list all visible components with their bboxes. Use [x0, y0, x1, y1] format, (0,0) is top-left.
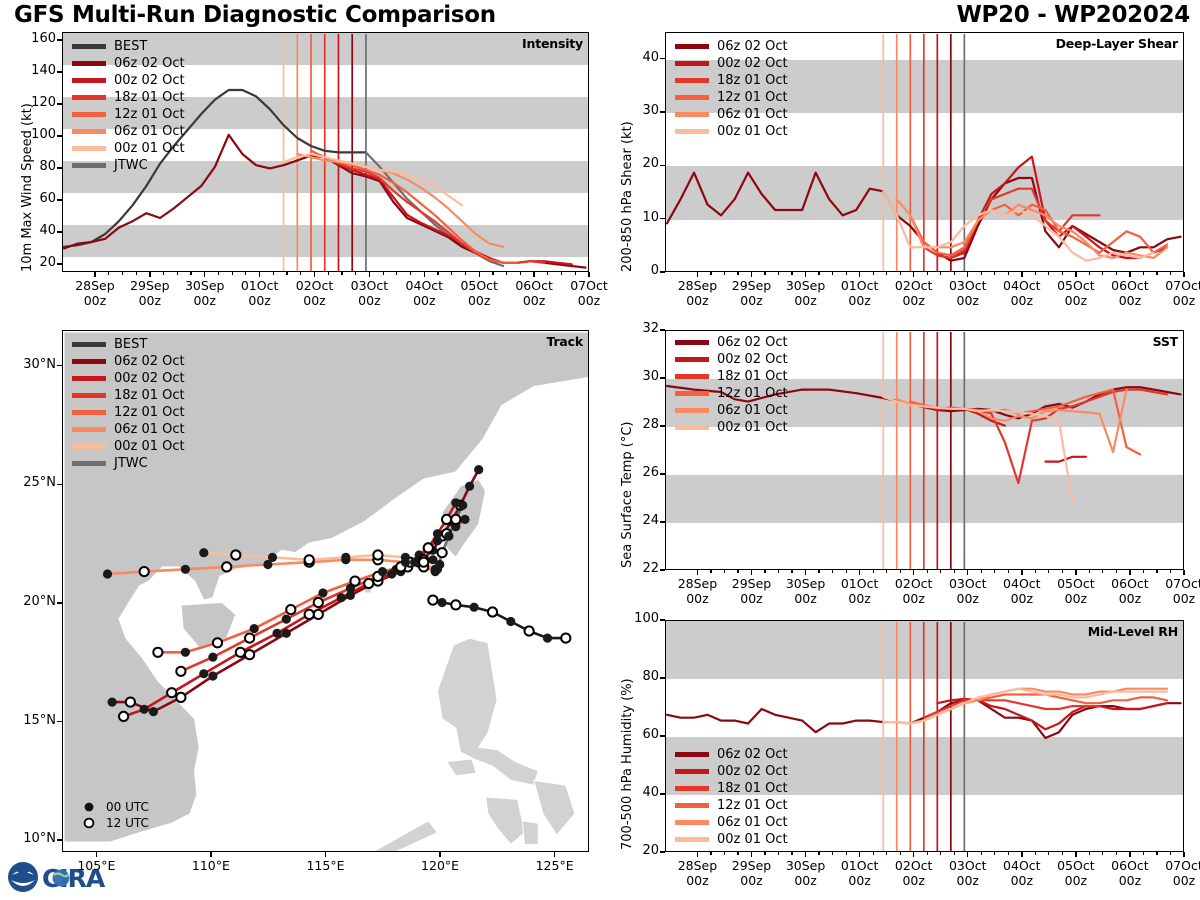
- x-tick-date: 05Oct: [1057, 576, 1095, 591]
- lon-tick-label: 105°E: [56, 858, 136, 873]
- x-tick-mark: [94, 272, 95, 277]
- x-tick-date: 02Oct: [895, 576, 933, 591]
- y-tick-label: 30: [621, 369, 659, 384]
- x-tick-mark: [1183, 852, 1184, 857]
- legend-item[interactable]: 12z 01 Oct: [675, 89, 788, 106]
- track-marker-00utc: [433, 565, 442, 574]
- legend-color-swatch: [72, 44, 106, 48]
- y-tick-mark: [660, 569, 665, 570]
- track-marker-00utc: [208, 653, 217, 662]
- x-minor-tick: [886, 570, 887, 573]
- y-tick-label: 100: [18, 127, 56, 142]
- x-minor-tick: [575, 272, 576, 275]
- x-tick-hour: 00z: [957, 591, 979, 606]
- x-tick-hour: 00z: [686, 293, 708, 308]
- x-tick-hour: 00z: [1119, 873, 1141, 888]
- x-tick-hour: 00z: [1011, 293, 1033, 308]
- x-tick-date: 28Sep: [678, 278, 717, 293]
- x-tick-date: 29Sep: [130, 278, 169, 293]
- x-tick-hour: 00z: [686, 873, 708, 888]
- x-minor-tick: [954, 272, 955, 275]
- x-minor-tick: [1102, 852, 1103, 855]
- legend-color-swatch: [675, 803, 709, 807]
- x-tick-mark: [859, 272, 860, 277]
- x-tick-date: 29Sep: [732, 858, 771, 873]
- legend-label: BEST: [114, 337, 147, 352]
- x-minor-tick: [190, 272, 191, 275]
- legend-label: 18z 01 Oct: [717, 369, 788, 384]
- track-marker-12utc: [126, 698, 135, 707]
- x-tick-date: 30Sep: [786, 858, 825, 873]
- legend-color-swatch: [72, 78, 106, 82]
- legend-item[interactable]: 06z 02 Oct: [675, 38, 788, 55]
- x-tick-mark: [805, 570, 806, 575]
- y-tick-mark: [660, 377, 665, 378]
- track-marker-12utc: [119, 712, 128, 721]
- panay-island: [486, 797, 525, 844]
- x-tick-mark: [697, 570, 698, 575]
- lon-tick-mark: [325, 852, 326, 857]
- y-tick-mark: [660, 165, 665, 166]
- legend-label: 00z 02 Oct: [717, 352, 788, 367]
- legend-item[interactable]: 00z 01 Oct: [72, 438, 185, 455]
- legend-label: 00z 01 Oct: [114, 141, 185, 156]
- x-tick-hour: 00z: [794, 293, 816, 308]
- x-minor-tick: [886, 852, 887, 855]
- x-tick-mark: [697, 272, 698, 277]
- lon-tick-mark: [554, 852, 555, 857]
- x-minor-tick: [724, 570, 725, 573]
- x-minor-tick: [710, 272, 711, 275]
- x-tick-mark: [424, 272, 425, 277]
- x-tick-hour: 00z: [848, 591, 870, 606]
- track-marker-00utc: [337, 593, 346, 602]
- legend-item[interactable]: 00z 02 Oct: [675, 55, 788, 72]
- x-tick-mark: [1075, 570, 1076, 575]
- rh-panel-label: Mid-Level RH: [1088, 624, 1178, 639]
- noaa-logo: [8, 862, 38, 892]
- x-minor-tick: [873, 272, 874, 275]
- legend-color-swatch: [72, 112, 106, 116]
- x-minor-tick: [737, 570, 738, 573]
- y-tick-label: 80: [621, 669, 659, 684]
- legend-item[interactable]: 18z 01 Oct: [72, 387, 185, 404]
- legend-item[interactable]: JTWC: [72, 157, 185, 174]
- x-minor-tick: [1102, 570, 1103, 573]
- track-marker-12utc: [561, 634, 570, 643]
- legend-item[interactable]: 00z 01 Oct: [675, 419, 788, 436]
- x-tick-date: 05Oct: [1057, 858, 1095, 873]
- legend-color-swatch: [675, 95, 709, 99]
- x-tick-mark: [204, 272, 205, 277]
- legend-label: 18z 01 Oct: [717, 781, 788, 796]
- legend-item[interactable]: 00z 02 Oct: [675, 351, 788, 368]
- shear-panel-label: Deep-Layer Shear: [1056, 36, 1178, 51]
- x-tick-date: 06Oct: [515, 278, 553, 293]
- x-tick-date: 02Oct: [895, 278, 933, 293]
- x-minor-tick: [764, 852, 765, 855]
- x-tick-hour: 00z: [1011, 591, 1033, 606]
- x-tick-mark: [533, 272, 534, 277]
- track-marker-00utc: [273, 629, 282, 638]
- legend-item[interactable]: 18z 01 Oct: [675, 72, 788, 89]
- x-minor-tick: [873, 570, 874, 573]
- legend-color-swatch: [675, 786, 709, 790]
- x-minor-tick: [506, 272, 507, 275]
- legend-item[interactable]: 18z 01 Oct: [675, 780, 788, 797]
- x-tick-hour: 00z: [957, 293, 979, 308]
- legend-color-swatch: [72, 163, 106, 167]
- marker-legend-label: 12 UTC: [106, 816, 149, 830]
- x-tick-date: 04Oct: [1003, 278, 1041, 293]
- legend-item[interactable]: BEST: [72, 336, 185, 353]
- hainan-island: [181, 603, 236, 648]
- sst-legend: 06z 02 Oct00z 02 Oct18z 01 Oct12z 01 Oct…: [675, 334, 788, 436]
- legend-color-swatch: [72, 444, 106, 448]
- track-marker-00utc: [199, 548, 208, 557]
- lat-tick-mark: [57, 602, 62, 603]
- intensity-legend: BEST06z 02 Oct00z 02 Oct18z 01 Oct12z 01…: [72, 38, 185, 174]
- x-tick-mark: [1021, 272, 1022, 277]
- x-tick-date: 29Sep: [732, 576, 771, 591]
- x-minor-tick: [737, 852, 738, 855]
- track-marker-00utc: [543, 634, 552, 643]
- x-minor-tick: [994, 852, 995, 855]
- x-tick-date: 06Oct: [1111, 858, 1149, 873]
- sst-panel-label: SST: [1153, 334, 1178, 349]
- x-tick-hour: 00z: [1011, 873, 1033, 888]
- x-minor-tick: [1143, 570, 1144, 573]
- legend-label: 00z 02 Oct: [114, 371, 185, 386]
- x-minor-tick: [778, 852, 779, 855]
- legend-label: 00z 01 Oct: [717, 420, 788, 435]
- legend-item[interactable]: BEST: [72, 38, 185, 55]
- x-tick-date: 03Oct: [949, 278, 987, 293]
- track-legend: BEST06z 02 Oct00z 02 Oct18z 01 Oct12z 01…: [72, 336, 185, 472]
- legend-label: 06z 01 Oct: [114, 124, 185, 139]
- x-tick-hour: 00z: [794, 591, 816, 606]
- storm-id-title: WP20 - WP202024: [956, 2, 1190, 28]
- legend-item[interactable]: 18z 01 Oct: [675, 368, 788, 385]
- x-minor-tick: [846, 272, 847, 275]
- y-tick-mark: [660, 329, 665, 330]
- legend-item[interactable]: 00z 01 Oct: [675, 123, 788, 140]
- x-tick-hour: 00z: [794, 873, 816, 888]
- x-minor-tick: [1170, 570, 1171, 573]
- legend-item[interactable]: 06z 02 Oct: [675, 334, 788, 351]
- x-tick-hour: 00z: [1173, 873, 1195, 888]
- track-marker-12utc: [428, 596, 437, 605]
- x-minor-tick: [832, 852, 833, 855]
- y-tick-mark: [660, 677, 665, 678]
- x-minor-tick: [245, 272, 246, 275]
- x-minor-tick: [286, 272, 287, 275]
- x-minor-tick: [492, 272, 493, 275]
- track-marker-12utc: [419, 558, 428, 567]
- x-minor-tick: [994, 272, 995, 275]
- x-minor-tick: [1062, 570, 1063, 573]
- legend-item[interactable]: 18z 01 Oct: [72, 89, 185, 106]
- legend-label: 12z 01 Oct: [717, 798, 788, 813]
- x-minor-tick: [791, 852, 792, 855]
- y-tick-label: 30: [621, 103, 659, 118]
- x-minor-tick: [886, 272, 887, 275]
- legend-label: 06z 01 Oct: [717, 107, 788, 122]
- y-tick-mark: [57, 39, 62, 40]
- lon-tick-label: 120°E: [400, 858, 480, 873]
- x-minor-tick: [710, 852, 711, 855]
- legend-color-swatch: [72, 410, 106, 414]
- marker-legend-item: 00 UTC: [82, 799, 149, 815]
- legend-label: 00z 02 Oct: [717, 764, 788, 779]
- legend-item[interactable]: 00z 01 Oct: [675, 831, 788, 848]
- y-tick-label: 28: [621, 417, 659, 432]
- x-tick-mark: [859, 852, 860, 857]
- legend-color-swatch: [72, 61, 106, 65]
- track-marker-00utc: [181, 565, 190, 574]
- track-marker-00utc: [103, 569, 112, 578]
- x-tick-date: 07Oct: [1165, 278, 1200, 293]
- x-tick-mark: [259, 272, 260, 277]
- x-minor-tick: [437, 272, 438, 275]
- legend-label: JTWC: [114, 456, 148, 471]
- legend-color-swatch: [72, 95, 106, 99]
- legend-item[interactable]: 06z 01 Oct: [675, 402, 788, 419]
- x-tick-mark: [1075, 852, 1076, 857]
- x-tick-date: 03Oct: [949, 576, 987, 591]
- x-tick-mark: [314, 272, 315, 277]
- x-tick-label: 07Oct00z: [554, 278, 624, 309]
- x-tick-hour: 00z: [578, 293, 600, 308]
- x-tick-mark: [913, 570, 914, 575]
- x-minor-tick: [778, 272, 779, 275]
- y-tick-label: 26: [621, 465, 659, 480]
- x-tick-date: 30Sep: [185, 278, 224, 293]
- x-minor-tick: [1062, 272, 1063, 275]
- x-minor-tick: [940, 570, 941, 573]
- legend-item[interactable]: 00z 02 Oct: [72, 370, 185, 387]
- samar-island: [534, 780, 575, 835]
- x-minor-tick: [1116, 852, 1117, 855]
- track-marker-00utc: [282, 629, 291, 638]
- x-tick-hour: 00z: [902, 293, 924, 308]
- y-tick-mark: [660, 851, 665, 852]
- track-marker-00utc: [208, 671, 217, 680]
- x-tick-date: 04Oct: [1003, 858, 1041, 873]
- series-line: [910, 390, 1140, 455]
- legend-color-swatch: [72, 427, 106, 431]
- track-marker-12utc: [167, 688, 176, 697]
- x-minor-tick: [927, 570, 928, 573]
- x-minor-tick: [981, 570, 982, 573]
- x-tick-date: 07Oct: [1165, 576, 1200, 591]
- legend-item[interactable]: 12z 01 Oct: [675, 797, 788, 814]
- x-minor-tick: [818, 852, 819, 855]
- x-minor-tick: [1035, 272, 1036, 275]
- legend-color-swatch: [675, 61, 709, 65]
- legend-item[interactable]: 06z 01 Oct: [675, 814, 788, 831]
- x-minor-tick: [547, 272, 548, 275]
- track-panel-label: Track: [547, 334, 583, 349]
- legend-color-swatch: [675, 752, 709, 756]
- x-minor-tick: [981, 272, 982, 275]
- track-marker-12utc: [488, 607, 497, 616]
- track-marker-00utc: [474, 465, 483, 474]
- y-tick-mark: [57, 167, 62, 168]
- legend-item[interactable]: 12z 01 Oct: [72, 404, 185, 421]
- track-marker-00utc: [444, 532, 453, 541]
- x-minor-tick: [1170, 852, 1171, 855]
- legend-item[interactable]: 00z 02 Oct: [675, 763, 788, 780]
- page-title: GFS Multi-Run Diagnostic Comparison: [14, 2, 496, 28]
- track-marker-00utc: [438, 598, 447, 607]
- x-tick-date: 02Oct: [895, 858, 933, 873]
- x-tick-mark: [805, 852, 806, 857]
- legend-item[interactable]: 06z 01 Oct: [72, 421, 185, 438]
- x-tick-date: 03Oct: [351, 278, 389, 293]
- legend-color-swatch: [72, 359, 106, 363]
- x-minor-tick: [900, 570, 901, 573]
- legend-item[interactable]: 12z 01 Oct: [675, 385, 788, 402]
- track-marker-00utc: [410, 558, 419, 567]
- x-minor-tick: [300, 272, 301, 275]
- y-tick-mark: [660, 271, 665, 272]
- x-minor-tick: [1156, 570, 1157, 573]
- x-tick-label: 07Oct00z: [1149, 858, 1200, 889]
- x-minor-tick: [818, 570, 819, 573]
- legend-item[interactable]: 00z 01 Oct: [72, 140, 185, 157]
- x-tick-hour: 00z: [1119, 591, 1141, 606]
- x-tick-mark: [149, 272, 150, 277]
- x-minor-tick: [791, 570, 792, 573]
- y-tick-label: 20: [621, 843, 659, 858]
- lat-tick-mark: [57, 839, 62, 840]
- legend-label: 00z 01 Oct: [717, 832, 788, 847]
- track-marker-12utc: [176, 693, 185, 702]
- x-minor-tick: [927, 272, 928, 275]
- x-tick-hour: 00z: [1119, 293, 1141, 308]
- lat-tick-label: 15°N: [6, 713, 56, 728]
- track-marker-12utc: [451, 515, 460, 524]
- x-minor-tick: [218, 272, 219, 275]
- lat-tick-mark: [57, 721, 62, 722]
- legend-item[interactable]: 06z 02 Oct: [72, 353, 185, 370]
- track-marker-12utc: [364, 579, 373, 588]
- filled-circle-icon: [82, 800, 96, 814]
- x-tick-mark: [1129, 272, 1130, 277]
- track-marker-00utc: [268, 553, 277, 562]
- lon-tick-mark: [210, 852, 211, 857]
- legend-label: 06z 02 Oct: [717, 39, 788, 54]
- track-marker-12utc: [176, 667, 185, 676]
- rh-legend: 06z 02 Oct00z 02 Oct18z 01 Oct12z 01 Oct…: [675, 746, 788, 848]
- track-marker-12utc: [222, 562, 231, 571]
- lon-tick-mark: [439, 852, 440, 857]
- x-minor-tick: [846, 570, 847, 573]
- x-minor-tick: [1008, 852, 1009, 855]
- x-minor-tick: [724, 852, 725, 855]
- legend-item[interactable]: 06z 02 Oct: [675, 746, 788, 763]
- legend-color-swatch: [675, 408, 709, 412]
- legend-color-swatch: [675, 425, 709, 429]
- x-tick-mark: [1075, 272, 1076, 277]
- y-tick-label: 0: [621, 263, 659, 278]
- x-minor-tick: [1170, 272, 1171, 275]
- x-tick-hour: 00z: [139, 293, 161, 308]
- x-tick-hour: 00z: [848, 293, 870, 308]
- x-minor-tick: [791, 272, 792, 275]
- y-tick-label: 20: [621, 156, 659, 171]
- legend-item[interactable]: 06z 01 Oct: [675, 106, 788, 123]
- x-tick-mark: [1021, 852, 1022, 857]
- y-tick-label: 160: [18, 31, 56, 46]
- x-tick-hour: 00z: [358, 293, 380, 308]
- x-tick-date: 05Oct: [460, 278, 498, 293]
- track-marker-legend: 00 UTC12 UTC: [82, 799, 149, 831]
- track-marker-00utc: [458, 501, 467, 510]
- track-marker-00utc: [460, 515, 469, 524]
- x-minor-tick: [1062, 852, 1063, 855]
- y-tick-mark: [660, 425, 665, 426]
- x-tick-date: 01Oct: [841, 278, 879, 293]
- x-minor-tick: [710, 570, 711, 573]
- y-tick-mark: [660, 111, 665, 112]
- legend-item[interactable]: 12z 01 Oct: [72, 106, 185, 123]
- y-tick-mark: [660, 735, 665, 736]
- x-minor-tick: [1035, 852, 1036, 855]
- legend-color-swatch: [675, 129, 709, 133]
- y-tick-label: 140: [18, 63, 56, 78]
- x-minor-tick: [451, 272, 452, 275]
- x-tick-date: 28Sep: [75, 278, 114, 293]
- track-marker-00utc: [199, 669, 208, 678]
- track-marker-12utc: [286, 605, 295, 614]
- mindoro-island: [447, 759, 477, 776]
- track-marker-12utc: [140, 567, 149, 576]
- y-tick-mark: [660, 793, 665, 794]
- series-line: [366, 152, 503, 266]
- x-tick-hour: 00z: [686, 591, 708, 606]
- legend-color-swatch: [72, 393, 106, 397]
- x-tick-date: 01Oct: [241, 278, 279, 293]
- legend-item[interactable]: 00z 02 Oct: [72, 72, 185, 89]
- x-tick-date: 05Oct: [1057, 278, 1095, 293]
- track-marker-12utc: [213, 638, 222, 647]
- x-minor-tick: [1035, 570, 1036, 573]
- track-marker-12utc: [245, 650, 254, 659]
- track-marker-12utc: [231, 550, 240, 559]
- x-minor-tick: [1116, 272, 1117, 275]
- x-tick-hour: 00z: [1065, 293, 1087, 308]
- x-minor-tick: [465, 272, 466, 275]
- x-minor-tick: [561, 272, 562, 275]
- legend-color-swatch: [675, 44, 709, 48]
- legend-item[interactable]: JTWC: [72, 455, 185, 472]
- x-minor-tick: [1143, 852, 1144, 855]
- track-marker-00utc: [341, 553, 350, 562]
- x-minor-tick: [108, 272, 109, 275]
- x-tick-mark: [859, 570, 860, 575]
- legend-item[interactable]: 06z 02 Oct: [72, 55, 185, 72]
- x-minor-tick: [232, 272, 233, 275]
- legend-label: 06z 02 Oct: [717, 747, 788, 762]
- legend-item[interactable]: 06z 01 Oct: [72, 123, 185, 140]
- x-tick-date: 01Oct: [841, 858, 879, 873]
- series-line: [924, 390, 1167, 484]
- track-marker-00utc: [378, 567, 387, 576]
- legend-color-swatch: [72, 376, 106, 380]
- y-tick-label: 24: [621, 513, 659, 528]
